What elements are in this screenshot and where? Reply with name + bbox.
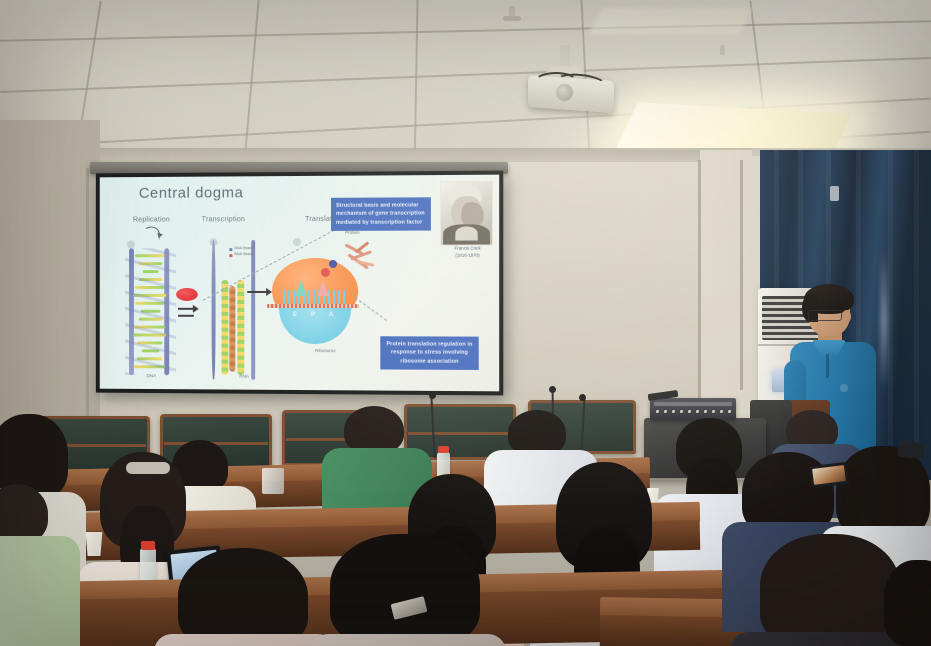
bottle-cap bbox=[141, 541, 155, 550]
legend-label-rna: RNA Strand bbox=[234, 252, 253, 256]
ribosome-site-e: E bbox=[293, 312, 298, 318]
microphone-head bbox=[429, 392, 436, 399]
protein-icon bbox=[342, 242, 378, 270]
transcription-diagram bbox=[208, 240, 269, 380]
bottle-cap bbox=[438, 446, 449, 453]
presenter-ear bbox=[842, 310, 851, 323]
water-bottle bbox=[262, 468, 284, 494]
label-dna: DNA bbox=[147, 373, 157, 378]
shirt-logo bbox=[840, 384, 848, 392]
microphone-head bbox=[549, 386, 556, 393]
process-arrow-head bbox=[193, 305, 199, 313]
polymerase-icon bbox=[176, 288, 198, 301]
portrait-francis-crick bbox=[440, 181, 493, 246]
hair-tie bbox=[126, 462, 170, 474]
stage-label-transcription: Transcription bbox=[202, 214, 245, 223]
mrna-strand bbox=[267, 304, 359, 308]
slide-content: Central dogma Replication Transcription … bbox=[100, 175, 499, 392]
legend-dot-rna bbox=[229, 254, 232, 257]
wall-pipe bbox=[740, 160, 743, 390]
smartphone[interactable] bbox=[897, 441, 925, 460]
chair-seam bbox=[408, 432, 512, 435]
amino-acid-dot bbox=[321, 268, 330, 277]
label-rna: RNA bbox=[239, 374, 249, 379]
trna-icon bbox=[317, 280, 329, 296]
audio-mixer[interactable] bbox=[650, 398, 736, 420]
label-ribosome: Ribosome bbox=[315, 348, 336, 353]
stage-number-3 bbox=[293, 238, 301, 246]
slide-title: Central dogma bbox=[139, 184, 244, 201]
ceiling-light-far bbox=[588, 8, 753, 34]
legend-label-dna: DNA Strand bbox=[234, 246, 253, 250]
glasses-icon bbox=[808, 310, 842, 321]
portrait-caption: Francis Crick (1916-1970) bbox=[440, 246, 495, 259]
legend-dot-dna bbox=[229, 248, 232, 251]
dna-helix-icon bbox=[125, 248, 176, 375]
ribosome-site-p: P bbox=[311, 312, 316, 318]
amino-acid-dot bbox=[329, 260, 337, 268]
portrait-years: (1916-1970) bbox=[440, 252, 495, 259]
translation-arrow bbox=[247, 291, 267, 293]
callout-transcription: Structural basis and molecular mechanism… bbox=[331, 197, 431, 231]
ribosome-site-a: A bbox=[329, 312, 334, 318]
sprinkler-plate bbox=[503, 16, 521, 21]
presenter-placket bbox=[826, 354, 829, 378]
projection-screen: Central dogma Replication Transcription … bbox=[96, 171, 503, 396]
stage-label-replication: Replication bbox=[133, 215, 170, 224]
curtain-hook bbox=[830, 186, 839, 201]
microphone-head bbox=[579, 394, 586, 401]
lecture-hall-photo: Central dogma Replication Transcription … bbox=[0, 0, 931, 646]
trna-icon bbox=[295, 280, 307, 296]
callout-translation: Protein translation regulation in respon… bbox=[380, 336, 478, 370]
process-arrow-reverse bbox=[178, 315, 194, 317]
stage-number-1 bbox=[127, 240, 135, 248]
process-arrow bbox=[178, 308, 194, 310]
sprinkler-head bbox=[720, 45, 725, 55]
